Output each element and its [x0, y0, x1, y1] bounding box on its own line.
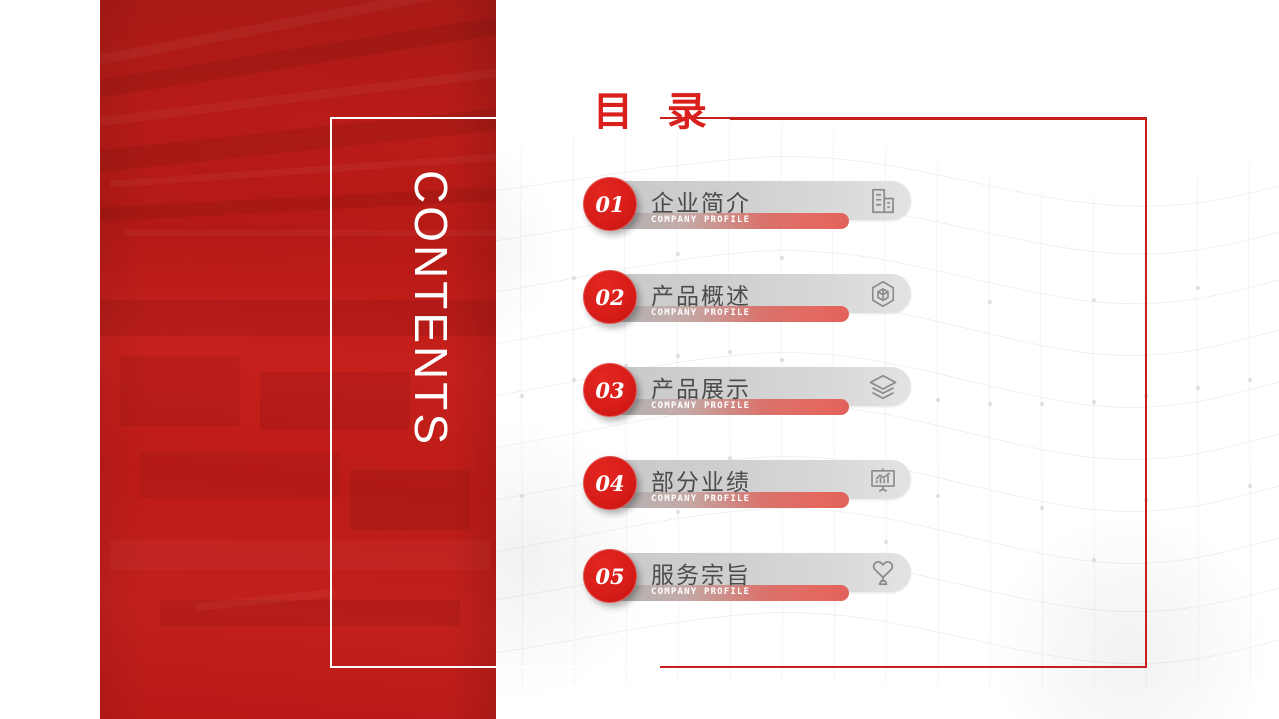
toc-item-02[interactable]: COMPANY PROFILE 02 产品概述: [583, 270, 923, 342]
layers-icon: [868, 372, 898, 402]
toc-list: COMPANY PROFILE 01 企业简介 COMPANY PROFILE …: [0, 0, 1279, 719]
toc-item-number-badge: 01: [583, 177, 637, 231]
hexagon-cube-icon: [868, 279, 898, 309]
toc-item-03[interactable]: COMPANY PROFILE 03 产品展示: [583, 363, 923, 435]
slide-canvas: CONTENTS 目 录 COMPANY PROFILE 01 企业简介: [0, 0, 1279, 719]
building-icon: [868, 186, 898, 216]
toc-item-title: 企业简介: [651, 184, 751, 218]
heart-trophy-icon: [868, 558, 898, 588]
toc-item-title: 产品概述: [651, 277, 751, 311]
presentation-chart-icon: [868, 465, 898, 495]
toc-item-number: 03: [595, 378, 624, 403]
toc-item-number: 04: [595, 471, 624, 496]
toc-item-title: 部分业绩: [651, 463, 751, 497]
toc-item-number-badge: 04: [583, 456, 637, 510]
toc-item-04[interactable]: COMPANY PROFILE 04 部分业绩: [583, 456, 923, 528]
toc-item-number: 05: [595, 564, 624, 589]
toc-item-number: 01: [595, 192, 624, 217]
toc-item-number-badge: 03: [583, 363, 637, 417]
toc-item-01[interactable]: COMPANY PROFILE 01 企业简介: [583, 177, 923, 249]
toc-item-number-badge: 02: [583, 270, 637, 324]
toc-item-05[interactable]: COMPANY PROFILE 05 服务宗旨: [583, 549, 923, 621]
toc-item-title: 服务宗旨: [651, 556, 751, 590]
toc-item-number: 02: [595, 285, 624, 310]
toc-item-number-badge: 05: [583, 549, 637, 603]
toc-item-title: 产品展示: [651, 370, 751, 404]
